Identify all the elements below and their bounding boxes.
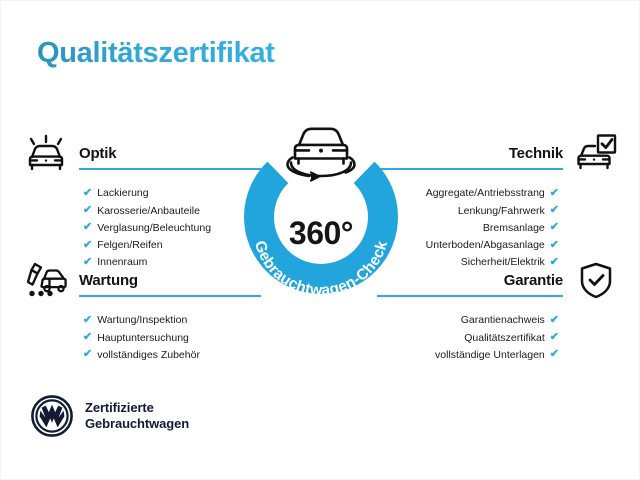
section-garantie-list: ✔Garantienachweis ✔Qualitätszertifikat ✔… (367, 312, 619, 364)
check-icon: ✔ (83, 332, 92, 343)
volkswagen-lockup-line2: Gebrauchtwagen (85, 416, 189, 432)
check-icon: ✔ (83, 205, 92, 216)
check-icon: ✔ (550, 240, 559, 251)
page-title: Qualitätszertifikat (37, 37, 275, 70)
check-icon: ✔ (83, 315, 92, 326)
car-shine-icon (23, 132, 69, 174)
list-item-label: Unterboden/Abgasanlage (426, 240, 545, 251)
shield-check-icon (573, 259, 619, 301)
volkswagen-lockup: Zertifizierte Gebrauchtwagen (31, 395, 189, 437)
list-item-label: Lenkung/Fahrwerk (458, 206, 545, 217)
check-icon: ✔ (83, 240, 92, 251)
check-icon: ✔ (550, 222, 559, 233)
list-item: ✔Garantienachweis (367, 312, 559, 329)
car-rotate-360-icon (288, 129, 355, 181)
check-icon: ✔ (550, 205, 559, 216)
list-item: ✔Hauptuntersuchung (83, 329, 273, 346)
check-icon: ✔ (550, 315, 559, 326)
check-icon: ✔ (550, 349, 559, 360)
list-item: ✔Qualitätszertifikat (367, 329, 559, 346)
volkswagen-lockup-text: Zertifizierte Gebrauchtwagen (85, 400, 189, 433)
wrench-car-icon (23, 259, 69, 301)
list-item-label: Qualitätszertifikat (464, 333, 545, 344)
volkswagen-lockup-line1: Zertifizierte (85, 400, 189, 416)
list-item-label: vollständige Unterlagen (435, 350, 545, 361)
list-item-label: Felgen/Reifen (97, 240, 162, 251)
check-icon: ✔ (550, 188, 559, 199)
list-item: ✔Wartung/Inspektion (83, 312, 273, 329)
certificate-page: Qualitätszertifikat Optik (0, 0, 640, 480)
section-wartung-list: ✔Wartung/Inspektion ✔Hauptuntersuchung ✔… (23, 312, 273, 364)
badge-360-gebrauchtwagen-check: Gebrauchtwagen-Check 360° (229, 115, 413, 311)
check-icon: ✔ (83, 349, 92, 360)
list-item-label: Karosserie/Anbauteile (97, 206, 200, 217)
check-icon: ✔ (83, 222, 92, 233)
list-item: ✔vollständiges Zubehör (83, 346, 273, 363)
list-item-label: vollständiges Zubehör (97, 350, 200, 361)
list-item-label: Garantienachweis (461, 315, 545, 326)
check-icon: ✔ (550, 332, 559, 343)
list-item-label: Lackierung (97, 188, 148, 199)
car-checkbox-icon (573, 132, 619, 174)
check-icon: ✔ (83, 188, 92, 199)
badge-degrees-label: 360° (229, 215, 413, 252)
list-item-label: Hauptuntersuchung (97, 333, 189, 344)
list-item: ✔vollständige Unterlagen (367, 346, 559, 363)
list-item-label: Aggregate/Antriebsstrang (426, 188, 545, 199)
list-item-label: Wartung/Inspektion (97, 315, 187, 326)
list-item-label: Verglasung/Beleuchtung (97, 223, 211, 234)
volkswagen-logo (31, 395, 73, 437)
list-item-label: Bremsanlage (483, 223, 545, 234)
